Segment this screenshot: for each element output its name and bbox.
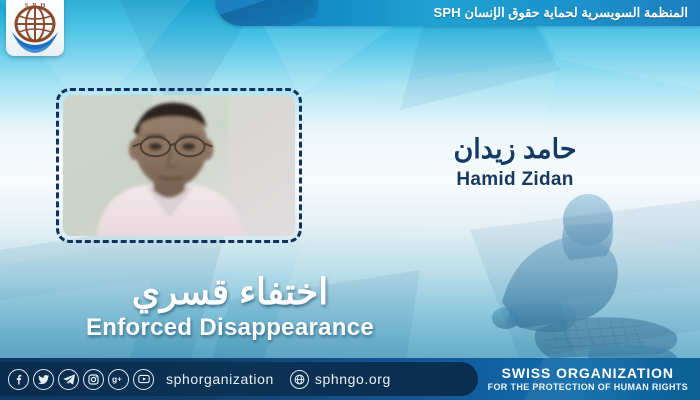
org-name-line2: FOR THE PROTECTION OF HUMAN RIGHTS (488, 382, 688, 394)
svg-text:+: + (118, 377, 122, 384)
logo-initials: S . P . H (25, 3, 46, 9)
instagram-icon[interactable] (83, 369, 104, 390)
svg-text:g: g (112, 374, 117, 384)
twitter-icon[interactable] (33, 369, 54, 390)
organization-signature: SWISS ORGANIZATION FOR THE PROTECTION OF… (488, 365, 688, 394)
subject-name-block: حامد زيدان Hamid Zidan (380, 134, 650, 191)
globe-icon (290, 370, 309, 389)
subject-name-arabic: حامد زيدان (380, 134, 650, 165)
kneeling-detainee-silhouette (440, 190, 700, 365)
facebook-icon[interactable] (8, 369, 29, 390)
youtube-icon[interactable] (133, 369, 154, 390)
organization-name-arabic: المنظمة السويسرية لحماية حقوق الإنسان SP… (433, 0, 688, 26)
header-band: المنظمة السويسرية لحماية حقوق الإنسان SP… (215, 0, 700, 26)
social-links-row: g+ (8, 369, 154, 390)
footer-contact-pill: g+ sphorganization sphngo.org (0, 362, 478, 396)
page-title-arabic: اختفاء قسري (30, 272, 430, 312)
sph-globe-wings-logo[interactable]: S . P . H (6, 0, 64, 56)
victim-portrait-photo (63, 95, 295, 236)
google-plus-icon[interactable]: g+ (108, 369, 129, 390)
telegram-icon[interactable] (58, 369, 79, 390)
website-group[interactable]: sphngo.org (290, 370, 391, 389)
social-handle[interactable]: sphorganization (166, 371, 274, 387)
poster-root: المنظمة السويسرية لحماية حقوق الإنسان SP… (0, 0, 700, 400)
subject-name-english: Hamid Zidan (380, 169, 650, 191)
portrait-frame (56, 88, 302, 243)
website-url[interactable]: sphngo.org (315, 371, 391, 387)
poster-title-block: اختفاء قسري Enforced Disappearance (30, 272, 430, 342)
org-name-line1: SWISS ORGANIZATION (488, 365, 688, 381)
page-title-english: Enforced Disappearance (30, 314, 430, 342)
footer-band: g+ sphorganization sphngo.org (0, 358, 700, 400)
